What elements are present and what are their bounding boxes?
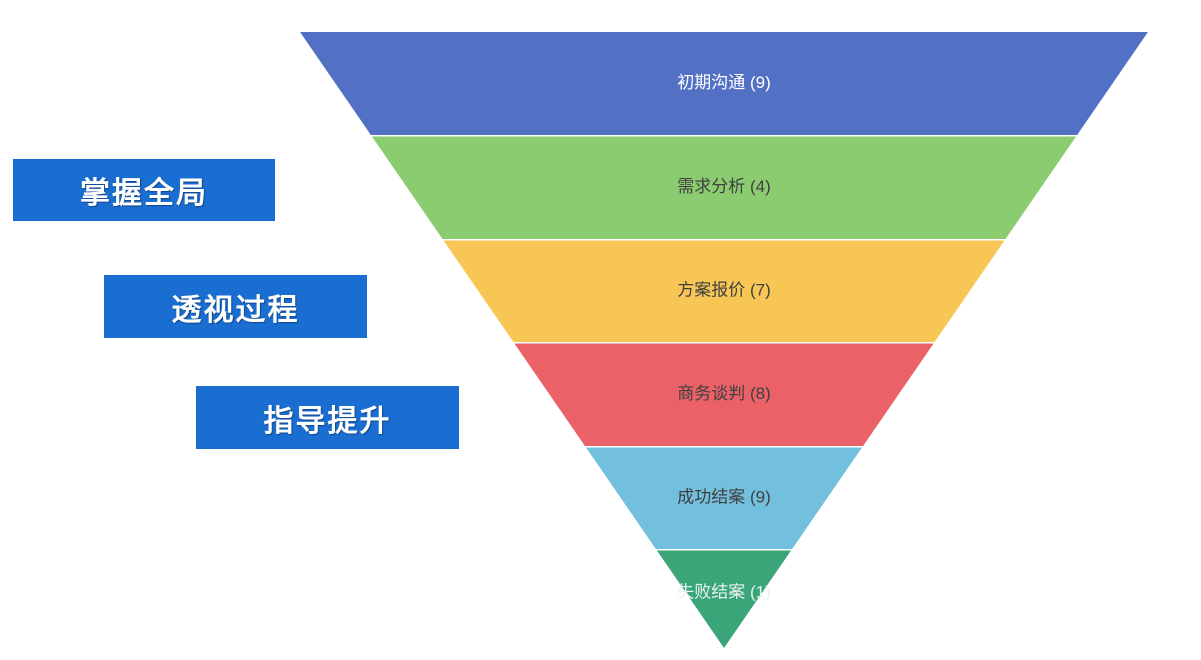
funnel-segment-label-2: 需求分析 (4) — [677, 177, 771, 196]
funnel-segment-5[interactable]: 成功结案 (9) — [586, 448, 862, 550]
funnel-chart: 初期沟通 (9) 需求分析 (4) 方案报价 (7) 商务谈判 (8) 成功结案… — [0, 0, 1201, 660]
funnel-segment-label-6: 失败结案 (1) — [677, 583, 771, 602]
funnel-segment-2[interactable]: 需求分析 (4) — [372, 137, 1076, 240]
funnel-segment-label-4: 商务谈判 (8) — [677, 384, 771, 403]
funnel-segment-4[interactable]: 商务谈判 (8) — [514, 344, 933, 447]
funnel-svg: 初期沟通 (9) 需求分析 (4) 方案报价 (7) 商务谈判 (8) 成功结案… — [0, 0, 1201, 660]
funnel-segment-label-3: 方案报价 (7) — [677, 281, 771, 300]
slide-canvas: 掌握全局 透视过程 指导提升 初期沟通 (9) 需求分析 (4) 方案报价 (7… — [0, 0, 1201, 660]
funnel-segment-label-1: 初期沟通 (9) — [677, 73, 771, 92]
funnel-segment-6[interactable]: 失败结案 (1) — [657, 551, 791, 649]
funnel-segment-3[interactable]: 方案报价 (7) — [444, 241, 1005, 343]
funnel-segment-1[interactable]: 初期沟通 (9) — [300, 32, 1148, 135]
funnel-segment-label-5: 成功结案 (9) — [677, 488, 771, 507]
